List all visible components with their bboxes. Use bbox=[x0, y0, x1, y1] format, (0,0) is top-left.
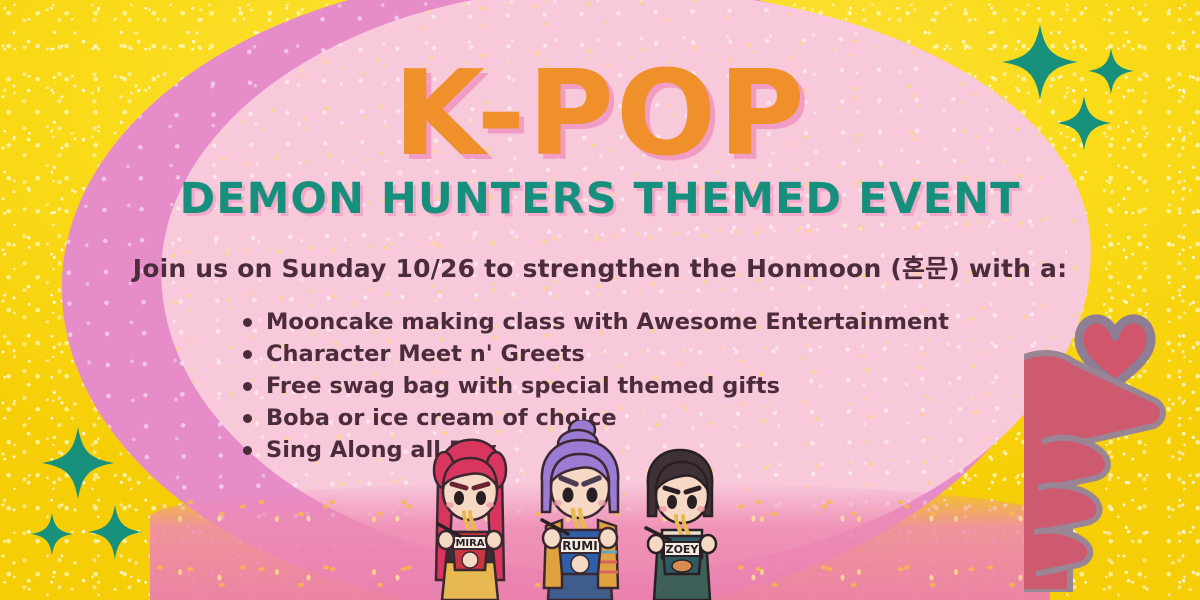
character-name-label: RUMI bbox=[562, 539, 597, 553]
bullet-dot-icon bbox=[243, 350, 252, 359]
character-name-label: MIRA bbox=[455, 538, 484, 549]
list-item-label: Mooncake making class with Awesome Enter… bbox=[266, 309, 949, 335]
bullet-dot-icon bbox=[243, 446, 252, 455]
character-mira: MIRA bbox=[434, 440, 506, 600]
bullet-dot-icon bbox=[243, 318, 252, 327]
list-item-label: Character Meet n' Greets bbox=[266, 341, 585, 367]
sparkle-icon bbox=[88, 505, 142, 559]
bullet-dot-icon bbox=[243, 382, 252, 391]
finger-heart-hand-graphic bbox=[1024, 292, 1200, 592]
list-item: Mooncake making class with Awesome Enter… bbox=[243, 307, 949, 337]
page-title: K-POP bbox=[393, 54, 806, 172]
character-rumi: RUMI bbox=[542, 420, 618, 600]
list-item: Character Meet n' Greets bbox=[243, 339, 949, 369]
character-zoey: ZOEY bbox=[646, 450, 716, 600]
title-block: K-POP DEMON HUNTERS THEMED EVENT bbox=[0, 54, 1200, 221]
sparkle-icon bbox=[42, 427, 114, 499]
page-subtitle: DEMON HUNTERS THEMED EVENT bbox=[0, 178, 1200, 221]
lead-text: Join us on Sunday 10/26 to strengthen th… bbox=[0, 249, 1200, 285]
list-item: Free swag bag with special themed gifts bbox=[243, 371, 949, 401]
character-name-label: ZOEY bbox=[666, 543, 700, 556]
character-group: MIRA bbox=[430, 420, 740, 600]
bullet-dot-icon bbox=[243, 414, 252, 423]
list-item-label: Free swag bag with special themed gifts bbox=[266, 373, 780, 399]
poster-canvas: K-POP DEMON HUNTERS THEMED EVENT Join us… bbox=[0, 0, 1200, 600]
hand-shape bbox=[1024, 353, 1163, 592]
sparkle-icon bbox=[31, 513, 73, 555]
